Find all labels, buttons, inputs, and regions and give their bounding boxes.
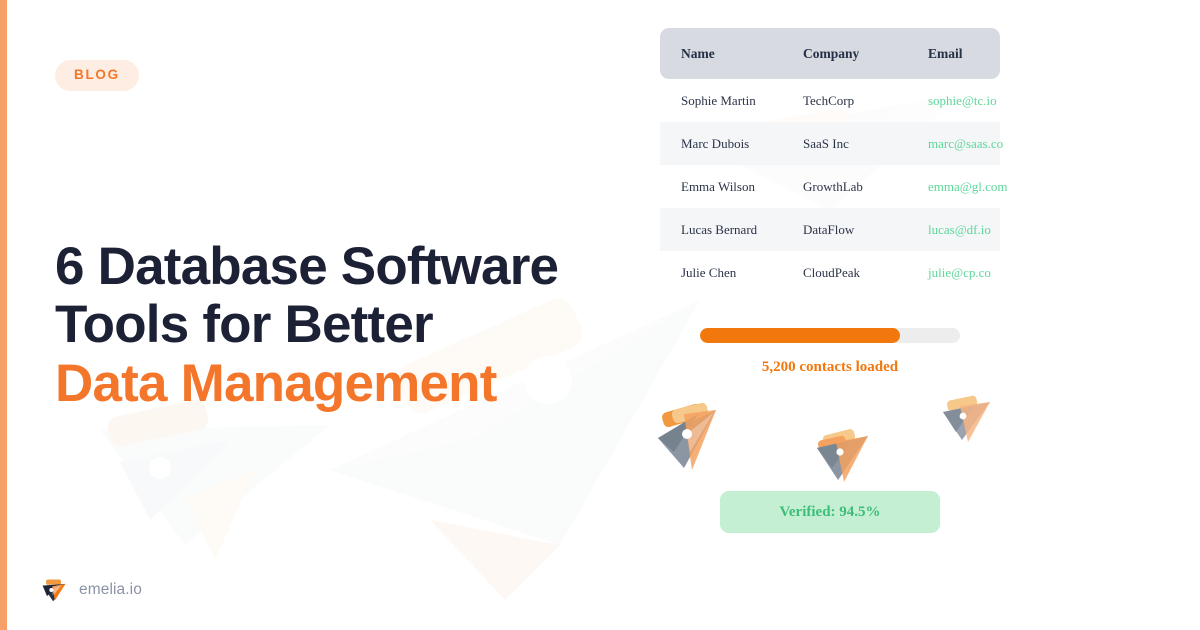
table-row: Julie Chen CloudPeak julie@cp.co bbox=[660, 251, 1000, 294]
paper-plane-logo-icon bbox=[40, 576, 68, 604]
headline-line-3: Data Management bbox=[55, 355, 655, 413]
blog-badge: BLOG bbox=[55, 60, 139, 91]
paper-plane-icon bbox=[943, 395, 990, 442]
brand-name: emelia.io bbox=[79, 581, 142, 599]
verified-status-badge: Verified: 94.5% bbox=[720, 491, 940, 533]
cell-name: Lucas Bernard bbox=[660, 208, 782, 251]
cell-name: Sophie Martin bbox=[660, 79, 782, 122]
table-body: Sophie Martin TechCorp sophie@tc.io Marc… bbox=[660, 79, 1000, 294]
table-row: Lucas Bernard DataFlow lucas@df.io bbox=[660, 208, 1000, 251]
cell-email: emma@gl.com bbox=[910, 165, 1000, 208]
paper-plane-decoration-group bbox=[640, 390, 1040, 500]
page-title: 6 Database Software Tools for Better Dat… bbox=[55, 238, 655, 413]
og-card: BLOG 6 Database Software Tools for Bette… bbox=[0, 0, 1200, 630]
paper-plane-icon bbox=[817, 428, 868, 482]
progress-label: 5,200 contacts loaded bbox=[700, 359, 960, 376]
cell-company: SaaS Inc bbox=[782, 122, 910, 165]
table-row: Sophie Martin TechCorp sophie@tc.io bbox=[660, 79, 1000, 122]
table-row: Emma Wilson GrowthLab emma@gl.com bbox=[660, 165, 1000, 208]
table-header-row: Name Company Email bbox=[660, 28, 1000, 79]
table-row: Marc Dubois SaaS Inc marc@saas.co bbox=[660, 122, 1000, 165]
cell-email: lucas@df.io bbox=[910, 208, 1000, 251]
column-header-company: Company bbox=[782, 28, 910, 79]
cell-email: sophie@tc.io bbox=[910, 79, 1000, 122]
contacts-table-card: Name Company Email Sophie Martin TechCor… bbox=[660, 28, 1000, 294]
column-header-name: Name bbox=[660, 28, 782, 79]
column-header-email: Email bbox=[910, 28, 1000, 79]
cell-company: CloudPeak bbox=[782, 251, 910, 294]
brand-footer: emelia.io bbox=[40, 576, 142, 604]
progress-fill bbox=[700, 328, 900, 343]
cell-email: julie@cp.co bbox=[910, 251, 1000, 294]
cell-company: GrowthLab bbox=[782, 165, 910, 208]
table-header: Name Company Email bbox=[660, 28, 1000, 79]
cell-email: marc@saas.co bbox=[910, 122, 1000, 165]
paper-plane-icon bbox=[658, 402, 716, 470]
headline-line-2: Tools for Better bbox=[55, 296, 655, 354]
left-edge-accent-stripe bbox=[0, 0, 7, 630]
cell-company: TechCorp bbox=[782, 79, 910, 122]
cell-name: Emma Wilson bbox=[660, 165, 782, 208]
headline-line-1: 6 Database Software bbox=[55, 238, 655, 296]
cell-name: Julie Chen bbox=[660, 251, 782, 294]
contacts-progress: 5,200 contacts loaded bbox=[700, 328, 960, 376]
cell-company: DataFlow bbox=[782, 208, 910, 251]
progress-track bbox=[700, 328, 960, 343]
contacts-table: Name Company Email Sophie Martin TechCor… bbox=[660, 28, 1000, 294]
cell-name: Marc Dubois bbox=[660, 122, 782, 165]
